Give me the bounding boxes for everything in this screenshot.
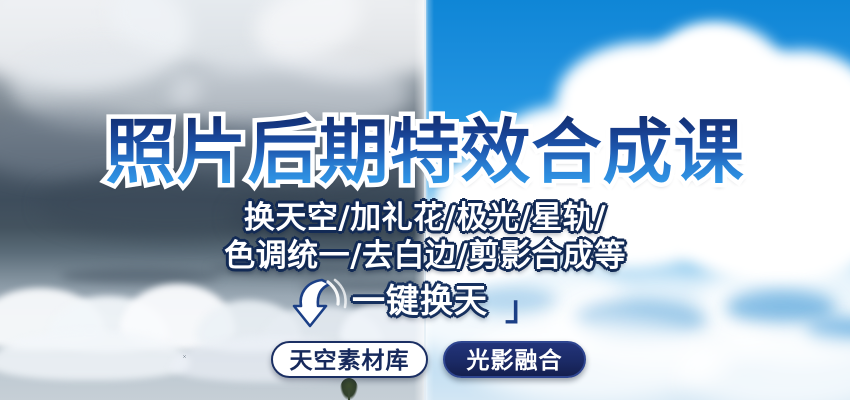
corner-bracket-glyph: 」 [505, 292, 539, 326]
subtitle-line-2: 色调统一/去白边/剪影合成等 [0, 238, 850, 274]
curved-down-arrow-icon [292, 276, 350, 332]
page-title-fill: 照片后期特效合成课 [0, 112, 850, 192]
one-key-label: 一键换天 [352, 279, 488, 323]
feature-pill-sky-library[interactable]: 天空素材库 [271, 341, 428, 378]
promo-banner: 照片后期特效合成课 照片后期特效合成课 换天空/加礼花/极光/星轨/ 色调统一/… [0, 0, 850, 400]
page-title: 照片后期特效合成课 照片后期特效合成课 [0, 112, 850, 198]
subtitle-line-1: 换天空/加礼花/极光/星轨/ [0, 200, 850, 236]
banner-content: 照片后期特效合成课 照片后期特效合成课 换天空/加礼花/极光/星轨/ 色调统一/… [0, 0, 850, 400]
feature-pill-light-blend[interactable]: 光影融合 [443, 341, 586, 378]
